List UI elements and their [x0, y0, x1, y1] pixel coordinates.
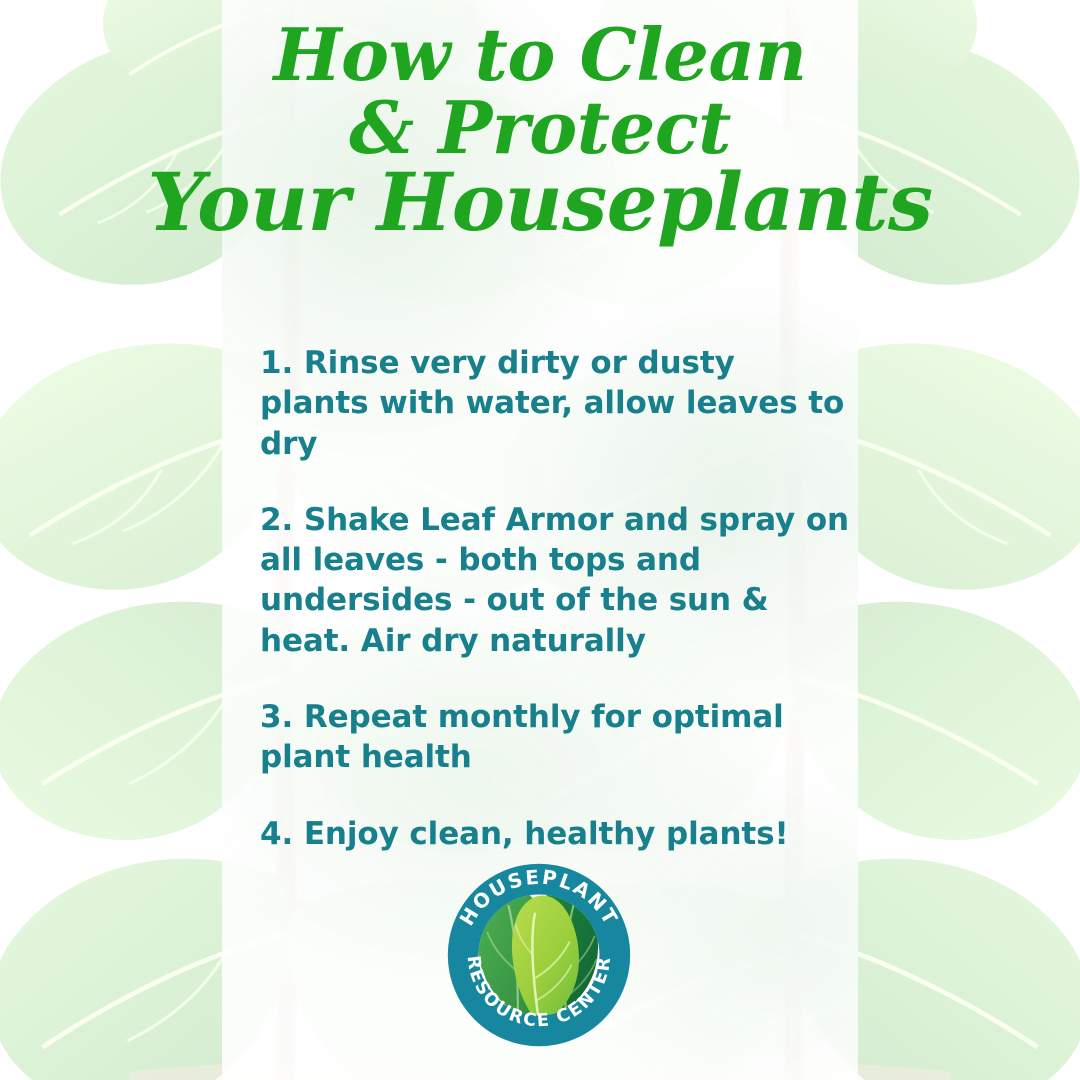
page-title-line-3: Your Houseplants — [0, 164, 1080, 241]
steps-list: 1. Rinse very dirty or dusty plants with… — [260, 312, 852, 854]
page-title-line-1: How to Clean — [0, 20, 1080, 89]
infographic-canvas: How to Clean & Protect Your Houseplants … — [0, 0, 1080, 1080]
step-item-1: 1. Rinse very dirty or dusty plants with… — [260, 343, 852, 464]
houseplant-resource-center-logo: HOUSEPLANT RESOURCE CENTER — [443, 855, 635, 1055]
page-title-line-2: & Protect — [0, 93, 1080, 162]
step-item-4: 4. Enjoy clean, healthy plants! — [260, 814, 852, 854]
page-title: How to Clean & Protect Your Houseplants — [0, 20, 1080, 241]
step-item-3: 3. Repeat monthly for optimal plant heal… — [260, 697, 852, 778]
step-item-2: 2. Shake Leaf Armor and spray on all lea… — [260, 500, 852, 661]
